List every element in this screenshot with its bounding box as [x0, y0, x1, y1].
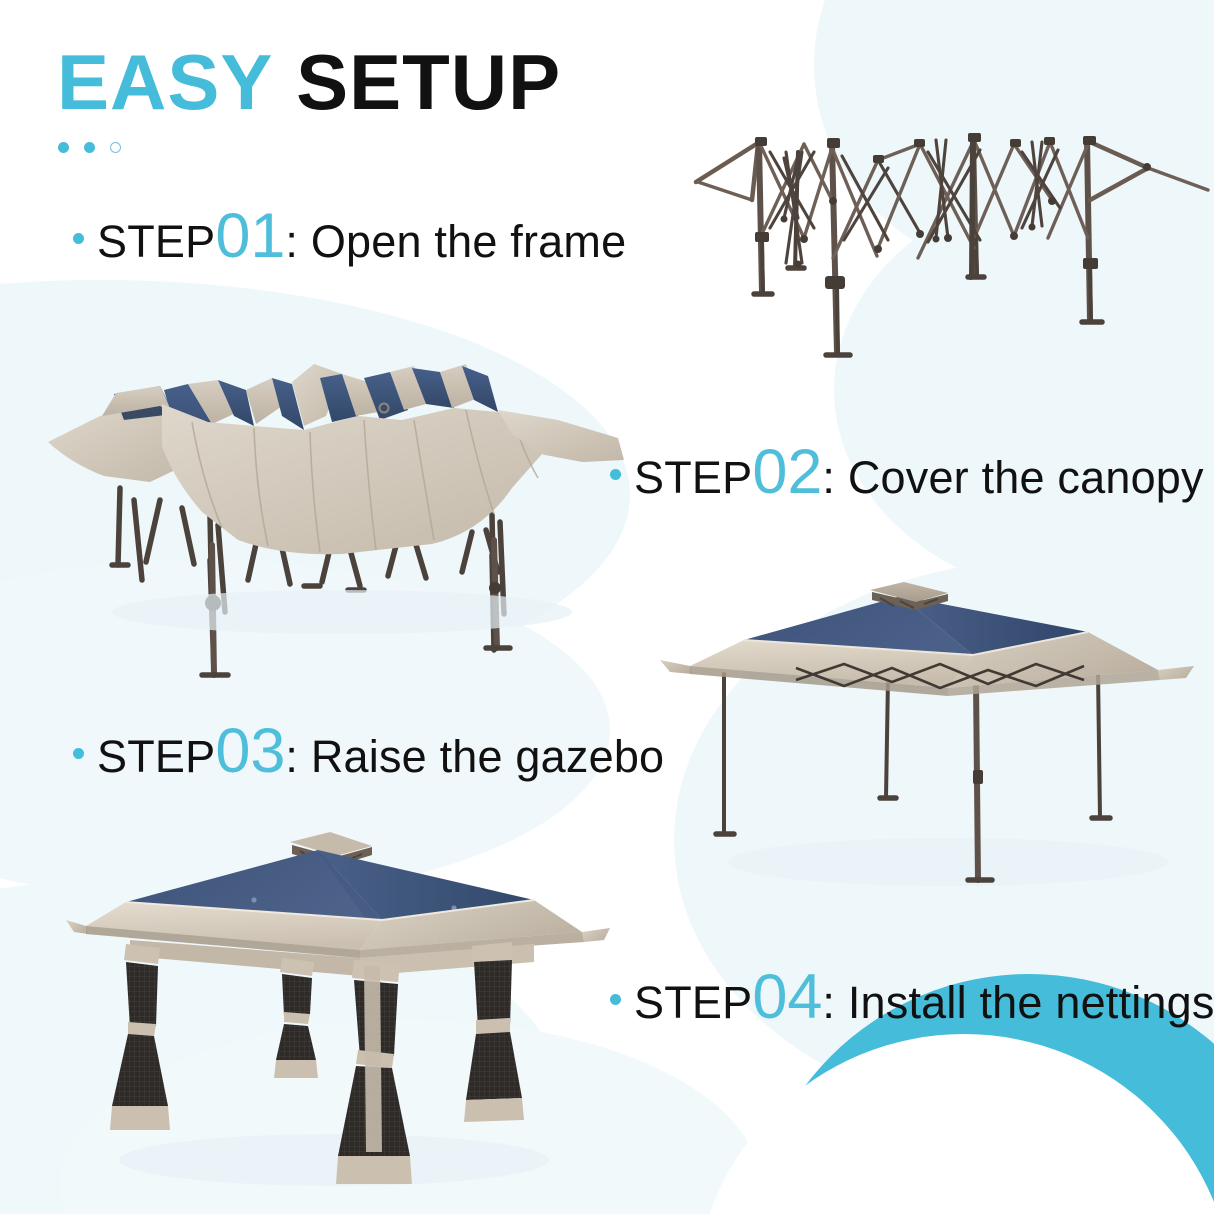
- step-1-caption: STEP01: Open the frame: [73, 205, 626, 268]
- infographic-page: EASY SETUP: [0, 0, 1214, 1214]
- step-4-caption: STEP04 : Install the nettings: [610, 966, 1214, 1029]
- step-2-caption: STEP02 : Cover the canopy: [610, 441, 1204, 504]
- step-3-caption: STEP03: Raise the gazebo: [73, 720, 664, 783]
- netting-3-post-sleeve: [364, 966, 382, 1152]
- step-1-illustration: [692, 108, 1212, 378]
- eave-tip-right: [1158, 666, 1194, 680]
- dot-3-icon: [110, 142, 121, 153]
- netting-curtain-2: [274, 958, 318, 1078]
- bg-corner-accent-mask: [694, 1034, 1214, 1214]
- netting-1-tie: [128, 1022, 156, 1036]
- page-title: EASY SETUP: [57, 43, 561, 121]
- netting-4-mesh-upper: [474, 960, 512, 1028]
- step-4-text: : Install the nettings: [822, 977, 1214, 1029]
- draped-canopy-svg: [42, 350, 632, 650]
- raised-gazebo-svg: [648, 562, 1210, 892]
- page-title-secondary: SETUP: [296, 38, 561, 126]
- netting-1-bottom-band: [110, 1106, 170, 1130]
- dot-1-icon: [58, 142, 69, 153]
- netting-4-mesh-lower: [466, 1032, 522, 1100]
- step-3-number: 03: [215, 720, 285, 783]
- netting-2-mesh-lower: [276, 1024, 316, 1060]
- gazebo-netting-svg: [64, 816, 624, 1200]
- frame-svg: [692, 108, 1212, 378]
- netting-curtain-4: [464, 942, 524, 1122]
- netting-2-tie: [284, 1012, 310, 1024]
- step-1-word: STEP: [97, 216, 215, 268]
- netting-1-mesh-upper: [126, 962, 158, 1028]
- step-2-number: 02: [752, 441, 822, 504]
- step-3-text: : Raise the gazebo: [285, 731, 664, 783]
- step-3-word: STEP: [97, 731, 215, 783]
- netting-4-bottom-band: [464, 1098, 524, 1122]
- step-1-text: : Open the frame: [285, 216, 626, 268]
- step-2-bullet-icon: [610, 469, 621, 480]
- netting-curtain-1: [110, 944, 170, 1130]
- eave-tip-left: [660, 660, 692, 674]
- pagination-dots: [58, 142, 121, 153]
- page-title-primary: EASY: [57, 38, 273, 126]
- netting-2-bottom-band: [274, 1060, 318, 1078]
- step-3-illustration: [648, 562, 1210, 892]
- step-4-illustration: [64, 816, 624, 1200]
- netting-curtain-3: [336, 960, 412, 1184]
- step-2-illustration: [42, 350, 632, 650]
- step-4-bullet-icon: [610, 994, 621, 1005]
- gazebo-shadow: [728, 838, 1168, 886]
- step-2-word: STEP: [634, 452, 752, 504]
- eave4-tip-right: [582, 928, 610, 942]
- netting-3-bottom-band: [336, 1156, 412, 1184]
- netting-4-tie: [476, 1018, 510, 1034]
- dot-2-icon: [84, 142, 95, 153]
- gazebo4-shadow: [119, 1134, 549, 1186]
- roof4-grommet-left: [251, 897, 256, 902]
- step-1-bullet-icon: [73, 233, 84, 244]
- step-3-bullet-icon: [73, 748, 84, 759]
- netting-1-mesh-lower: [112, 1034, 168, 1106]
- step-1-number: 01: [215, 205, 285, 268]
- step-4-number: 04: [752, 966, 822, 1029]
- step-4-word: STEP: [634, 977, 752, 1029]
- canopy-shadow: [112, 590, 572, 634]
- eave4-tip-left: [66, 920, 88, 934]
- netting-2-mesh-upper: [282, 974, 312, 1016]
- step-2-text: : Cover the canopy: [822, 452, 1203, 504]
